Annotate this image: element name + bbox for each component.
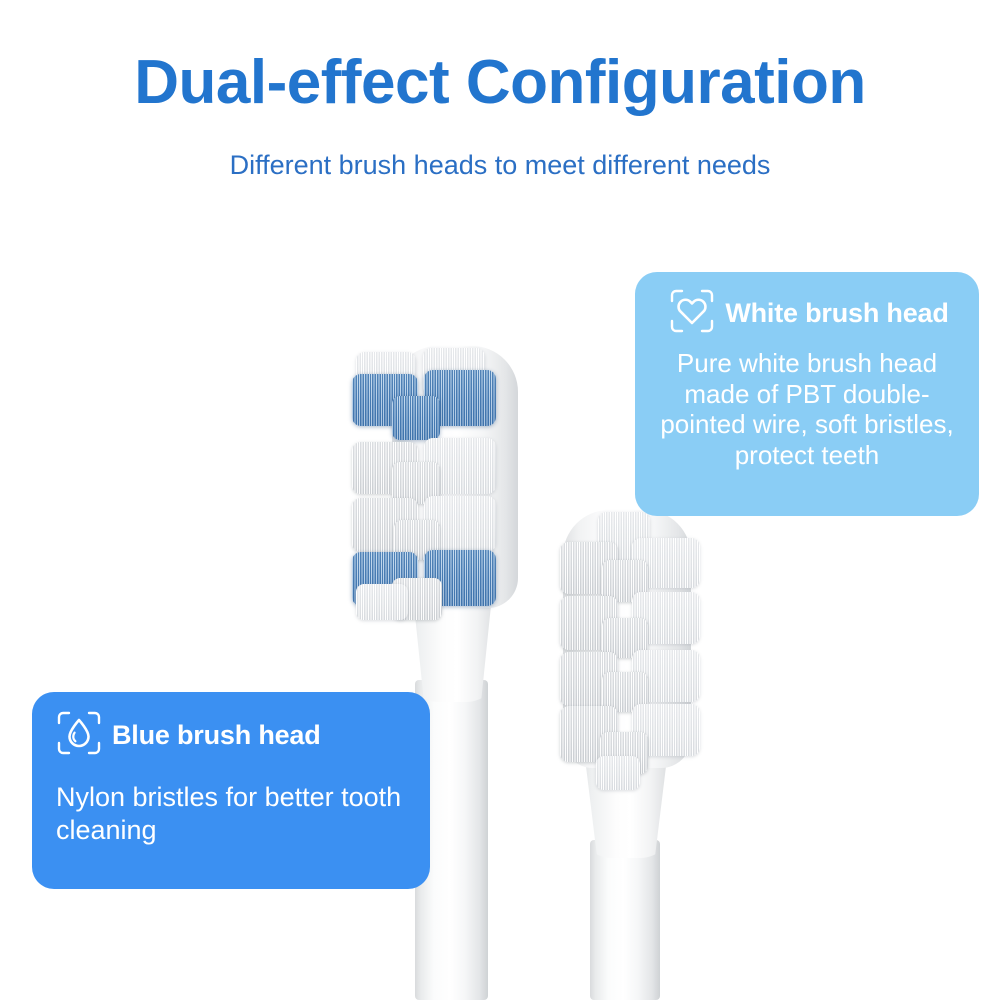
callout-header: White brush head	[643, 288, 971, 339]
page-subtitle: Different brush heads to meet different …	[0, 150, 1000, 181]
bristle-tuft	[596, 756, 640, 790]
white-brush-handle	[590, 840, 660, 1000]
callout-white-title: White brush head	[725, 298, 948, 329]
callout-white-body: Pure white brush head made of PBT double…	[643, 348, 971, 471]
callout-header: Blue brush head	[56, 710, 406, 761]
heart-in-frame-icon	[669, 288, 715, 339]
callout-blue-brush-head[interactable]: Blue brush head Nylon bristles for bette…	[32, 692, 430, 889]
callout-white-brush-head[interactable]: White brush head Pure white brush head m…	[635, 272, 979, 516]
page-title: Dual-effect Configuration	[0, 47, 1000, 118]
bristle-tuft	[356, 584, 408, 620]
callout-blue-body: Nylon bristles for better tooth cleaning	[56, 781, 406, 848]
water-drop-in-frame-icon	[56, 710, 102, 761]
callout-blue-title: Blue brush head	[112, 720, 321, 751]
infographic-canvas: Dual-effect Configuration Different brus…	[0, 0, 1000, 1000]
bristle-tuft	[392, 396, 440, 440]
